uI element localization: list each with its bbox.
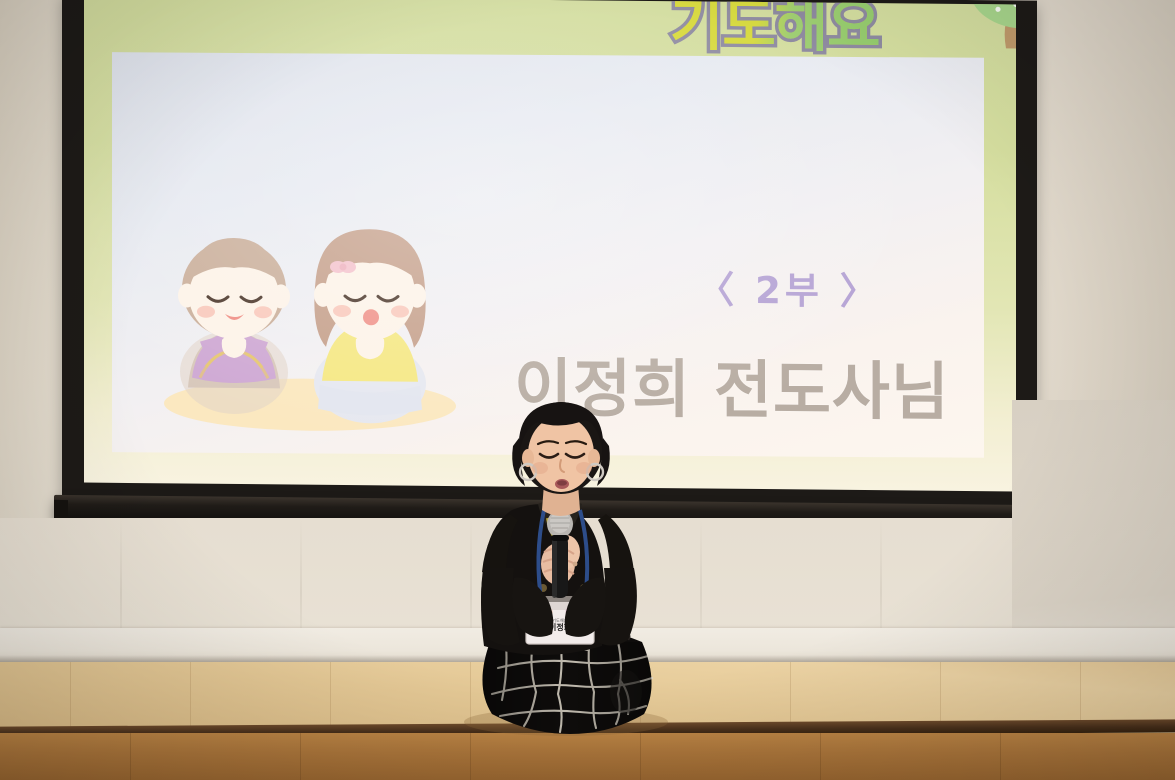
photo-scene: 〈 2부 〉 이정희 전도사님 기도해요 기도해요	[0, 0, 1175, 780]
slide-heading: 기도해요	[670, 0, 879, 63]
child-left	[178, 237, 290, 414]
slide-part-label: 〈 2부 〉	[624, 259, 954, 316]
hair-bow	[330, 261, 356, 273]
stage-front-panel	[0, 733, 1175, 780]
child-right	[314, 229, 426, 424]
tree-icon	[964, 0, 1016, 73]
head	[512, 402, 610, 494]
praying-children-illustration	[142, 191, 472, 439]
speaker-person: 기도해요 이정희	[448, 392, 678, 737]
